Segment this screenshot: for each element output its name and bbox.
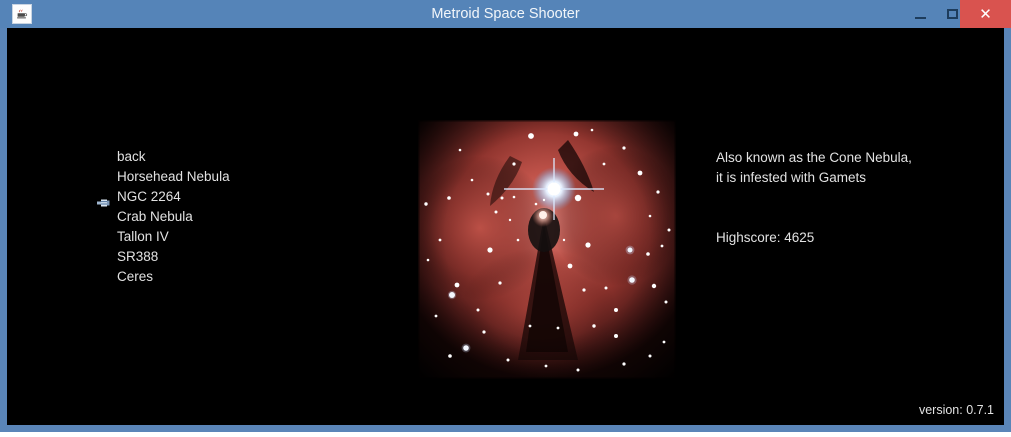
description-line-2: it is infested with Gamets	[716, 168, 986, 188]
ship-cursor-icon	[97, 193, 110, 201]
java-coffee-cup-icon	[12, 4, 32, 24]
menu-item-tallon-iv[interactable]: Tallon IV	[110, 227, 360, 247]
menu-item-crab-nebula[interactable]: Crab Nebula	[110, 207, 360, 227]
title-bar[interactable]: Metroid Space Shooter ✕	[0, 0, 1011, 28]
level-select-menu[interactable]: back Horsehead Nebula NGC 2264	[110, 147, 360, 287]
menu-item-label: back	[117, 149, 146, 164]
minimize-button[interactable]	[905, 0, 935, 28]
menu-item-label: Crab Nebula	[117, 209, 193, 224]
close-icon: ✕	[979, 5, 992, 23]
menu-item-ngc-2264[interactable]: NGC 2264	[110, 187, 360, 207]
highscore-label: Highscore: 4625	[716, 228, 814, 248]
menu-item-back[interactable]: back	[110, 147, 360, 167]
ngc-2264-cone-nebula-image	[418, 120, 676, 379]
menu-item-label: Tallon IV	[117, 229, 169, 244]
maximize-icon	[947, 9, 958, 19]
menu-item-label: NGC 2264	[117, 189, 181, 204]
menu-item-label: SR388	[117, 249, 158, 264]
window-title: Metroid Space Shooter	[0, 0, 1011, 28]
menu-item-label: Ceres	[117, 269, 153, 284]
menu-item-horsehead-nebula[interactable]: Horsehead Nebula	[110, 167, 360, 187]
description-line-1: Also known as the Cone Nebula,	[716, 148, 986, 168]
menu-item-sr388[interactable]: SR388	[110, 247, 360, 267]
version-label: version: 0.7.1	[919, 403, 994, 417]
application-window: Metroid Space Shooter ✕ back Horsehead N…	[0, 0, 1011, 432]
close-button[interactable]: ✕	[960, 0, 1011, 28]
menu-item-ceres[interactable]: Ceres	[110, 267, 360, 287]
game-canvas[interactable]: back Horsehead Nebula NGC 2264	[7, 28, 1004, 425]
menu-item-label: Horsehead Nebula	[117, 169, 230, 184]
level-description-panel: Also known as the Cone Nebula, it is inf…	[716, 148, 986, 188]
minimize-icon	[915, 17, 926, 19]
